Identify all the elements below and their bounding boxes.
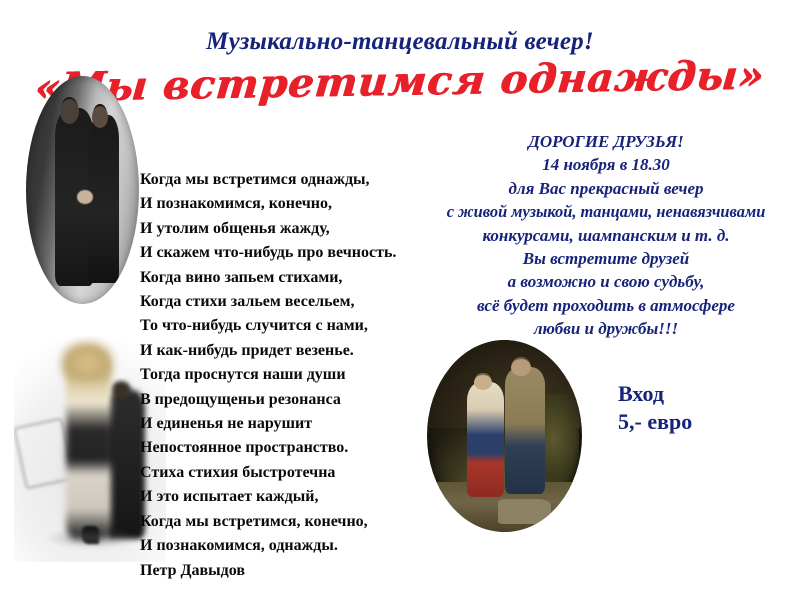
entry-price-block: Вход 5,- евро: [618, 380, 692, 436]
poem-line: Тогда проснутся наши души: [140, 363, 440, 387]
painting-woman-figure: [467, 382, 504, 497]
painting-oval: [427, 340, 582, 532]
poem-line: И это испытает каждый,: [140, 485, 440, 509]
page-title: Музыкально-танцевальный вечер!: [0, 28, 800, 56]
page-subtitle-script: «Мы встретимся однажды»: [0, 51, 800, 112]
poem-line: И познакомимся, однажды.: [140, 534, 440, 558]
poem-line: Когда мы встретимся однажды,: [140, 168, 440, 192]
announcement-line: 14 ноября в 18.30: [412, 153, 800, 176]
poster-canvas: Музыкально-танцевальный вечер! «Мы встре…: [0, 0, 800, 600]
announcement-line: конкурсами, шампанским и т. д.: [412, 224, 800, 247]
bw-man-head: [60, 99, 79, 124]
painting-woman-head: [474, 375, 493, 390]
painting-man-figure: [505, 367, 545, 494]
poem-block: Когда мы встретимся однажды, И познакоми…: [140, 168, 440, 583]
poem-line: То что-нибудь случится с нами,: [140, 314, 440, 338]
entry-price: 5,- евро: [618, 408, 692, 436]
announcement-line: с живой музыкой, танцами, ненавязчивами: [412, 200, 800, 223]
poem-line: И утолим общенья жажду,: [140, 217, 440, 241]
blur-man-figure: [105, 390, 145, 539]
bw-hands: [77, 190, 93, 204]
photo-couple-bw: [26, 76, 139, 304]
entry-label: Вход: [618, 380, 692, 408]
announcement-line: Вы встретите друзей: [412, 247, 800, 270]
announcement-line: любви и дружбы!!!: [412, 317, 800, 340]
poem-line: Стиха стихия быстротечна: [140, 461, 440, 485]
poem-line: И как-нибудь придет везенье.: [140, 339, 440, 363]
poem-author: Петр Давыдов: [140, 559, 440, 583]
poem-line: Непостоянное пространство.: [140, 436, 440, 460]
poem-line: Когда вино запьем стихами,: [140, 266, 440, 290]
blur-woman-hair: [60, 341, 115, 382]
poem-line: И единенья не нарушит: [140, 412, 440, 436]
announcement-line: для Вас прекрасный вечер: [412, 177, 800, 200]
announcement-line: всё будет проходить в атмосфере: [412, 294, 800, 317]
announcement-line: а возможно и свою судьбу,: [412, 270, 800, 293]
announcement-block: ДОРОГИЕ ДРУЗЬЯ! 14 ноября в 18.30 для Ва…: [412, 130, 800, 341]
painting-rock: [498, 499, 551, 524]
poem-line: И познакомимся, конечно,: [140, 192, 440, 216]
bw-woman-figure: [88, 115, 119, 284]
blur-floor-shadow: [47, 528, 138, 548]
poem-line: В предощущеньи резонанса: [140, 388, 440, 412]
poem-line: Когда мы встретимся, конечно,: [140, 510, 440, 534]
poem-line: И скажем что-нибудь про вечность.: [140, 241, 440, 265]
announcement-line: ДОРОГИЕ ДРУЗЬЯ!: [412, 130, 800, 153]
poem-line: Когда стихи зальем весельем,: [140, 290, 440, 314]
